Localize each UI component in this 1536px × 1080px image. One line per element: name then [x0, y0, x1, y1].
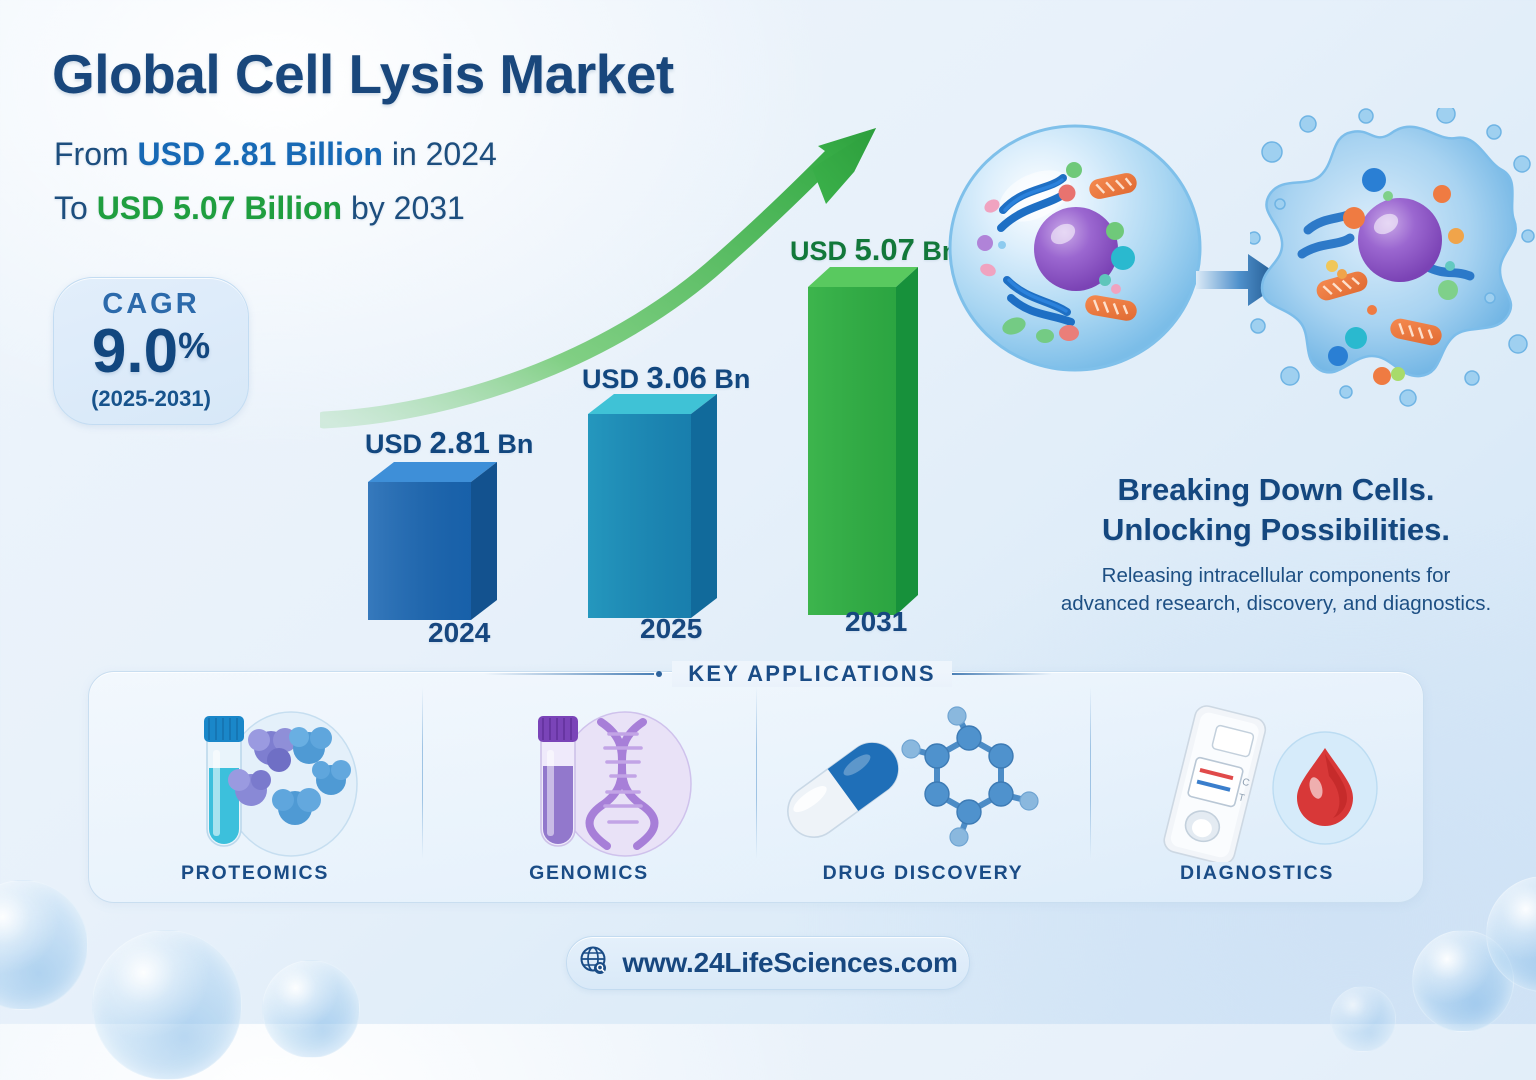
tagline-body-line-2: advanced research, discovery, and diagno…	[1061, 592, 1491, 615]
bar-value-label-2025: USD 3.06 Bn	[582, 360, 750, 396]
bar-2025	[588, 392, 728, 610]
value-number: 2.81	[430, 425, 490, 460]
page-title: Global Cell Lysis Market	[52, 42, 674, 106]
tagline-heading: Breaking Down Cells. Unlocking Possibili…	[1050, 470, 1502, 549]
tagline-heading-line-1: Breaking Down Cells.	[1118, 472, 1435, 507]
cagr-number: 9.0	[92, 317, 178, 386]
application-item-diagnostics[interactable]: C T DIAGNOSTICS	[1090, 671, 1424, 903]
bar-2024	[368, 460, 508, 610]
bar-2031	[808, 265, 936, 610]
value-prefix: USD	[790, 236, 847, 266]
bar-year-label-2031: 2031	[845, 606, 907, 638]
application-item-genomics[interactable]: GENOMICS	[422, 671, 756, 903]
cagr-value: 9.0%	[92, 320, 210, 383]
key-applications-heading: KEY APPLICATIONS	[672, 661, 952, 687]
cagr-badge: CAGR 9.0% (2025-2031)	[53, 277, 249, 425]
capsule-molecule-icon	[756, 704, 1090, 862]
decorative-bubble	[1330, 986, 1396, 1052]
test-tube-dna-icon	[422, 704, 756, 862]
subtitle-1-prefix: From	[54, 136, 138, 172]
application-label: DRUG DISCOVERY	[823, 862, 1024, 885]
tagline-body-line-1: Releasing intracellular components for	[1102, 564, 1451, 587]
decorative-bubble	[92, 930, 242, 1080]
subtitle-2-prefix: To	[54, 190, 97, 226]
key-applications-list: PROTEOMICS	[88, 671, 1424, 903]
lysed-cell-illustration	[1250, 108, 1536, 408]
bar-year-label-2025: 2025	[640, 613, 702, 645]
application-item-proteomics[interactable]: PROTEOMICS	[88, 671, 422, 903]
globe-search-icon	[578, 945, 610, 982]
cagr-label: CAGR	[102, 290, 199, 319]
tagline-body: Releasing intracellular components for a…	[1050, 562, 1502, 617]
test-cassette-blood-drop-icon: C T	[1090, 704, 1424, 862]
infographic-canvas: Global Cell Lysis Market From USD 2.81 B…	[0, 0, 1536, 1024]
application-label: PROTEOMICS	[181, 862, 329, 885]
tagline-heading-line-2: Unlocking Possibilities.	[1102, 512, 1450, 547]
intact-cell-illustration	[945, 118, 1205, 378]
value-prefix: USD	[365, 429, 422, 459]
value-number: 3.06	[647, 360, 707, 395]
value-suffix: Bn	[497, 429, 533, 459]
bar-year-label-2024: 2024	[428, 617, 490, 649]
application-item-drug-discovery[interactable]: DRUG DISCOVERY	[756, 671, 1090, 903]
value-number: 5.07	[855, 232, 915, 267]
cagr-percent-sign: %	[178, 325, 210, 366]
value-2031: USD 5.07 Billion	[97, 190, 342, 226]
cagr-period: (2025-2031)	[91, 386, 211, 412]
website-url: www.24LifeSciences.com	[622, 947, 957, 979]
key-applications-heading-row: KEY APPLICATIONS	[0, 659, 1536, 689]
decorative-bubble	[262, 960, 360, 1058]
heading-rule-right	[952, 673, 1052, 675]
application-label: GENOMICS	[529, 862, 649, 885]
website-badge[interactable]: www.24LifeSciences.com	[566, 936, 970, 990]
heading-rule-left	[484, 673, 654, 675]
bar-value-label-2031: USD 5.07 Bn	[790, 232, 958, 268]
test-tube-protein-icon	[88, 704, 422, 862]
heading-dot	[656, 671, 662, 677]
application-label: DIAGNOSTICS	[1180, 862, 1334, 885]
value-suffix: Bn	[714, 364, 750, 394]
value-prefix: USD	[582, 364, 639, 394]
bar-value-label-2024: USD 2.81 Bn	[365, 425, 533, 461]
decorative-bubble	[0, 880, 88, 1010]
tagline-block: Breaking Down Cells. Unlocking Possibili…	[1050, 470, 1502, 617]
